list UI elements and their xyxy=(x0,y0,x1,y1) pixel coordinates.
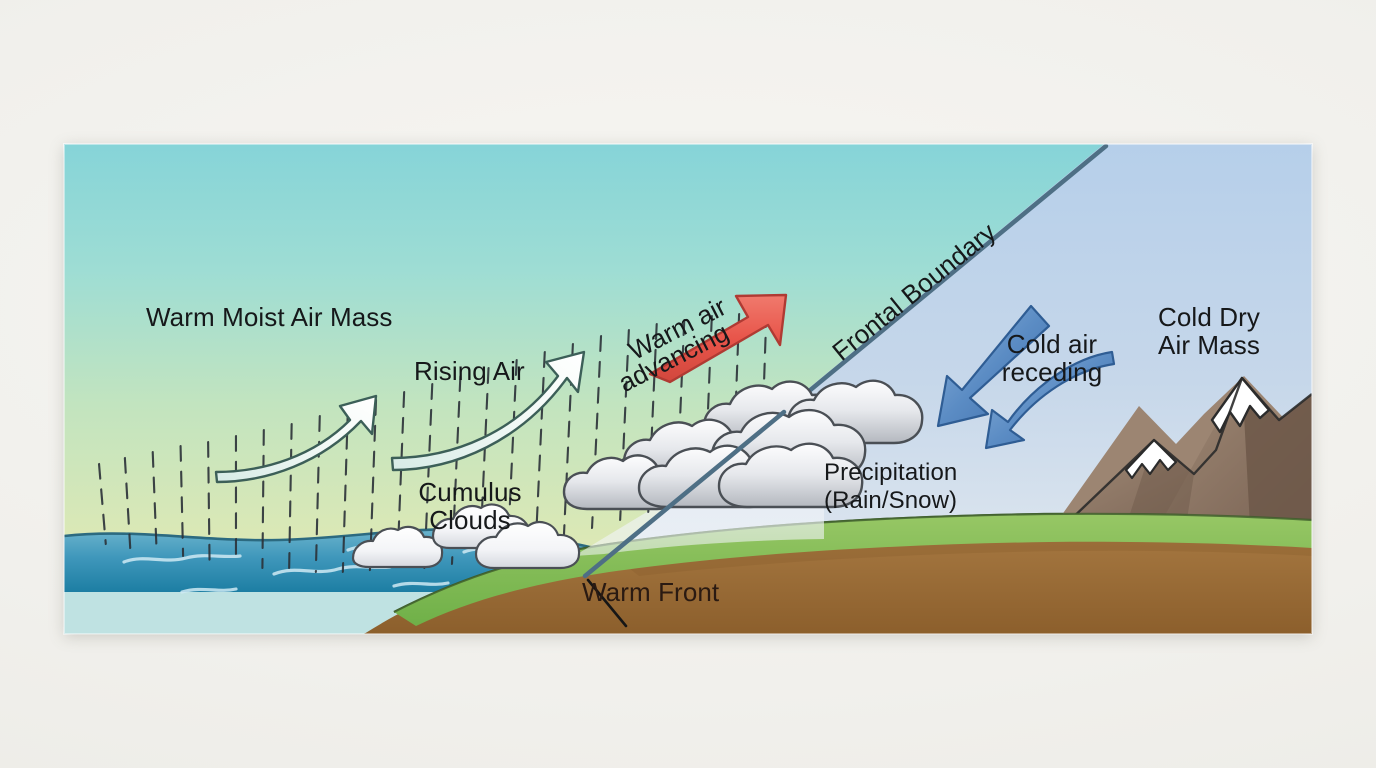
weather-diagram-figure: Warm Moist Air Mass Rising Air Cumulus C… xyxy=(64,144,1312,634)
diagram-canvas xyxy=(64,144,1312,634)
